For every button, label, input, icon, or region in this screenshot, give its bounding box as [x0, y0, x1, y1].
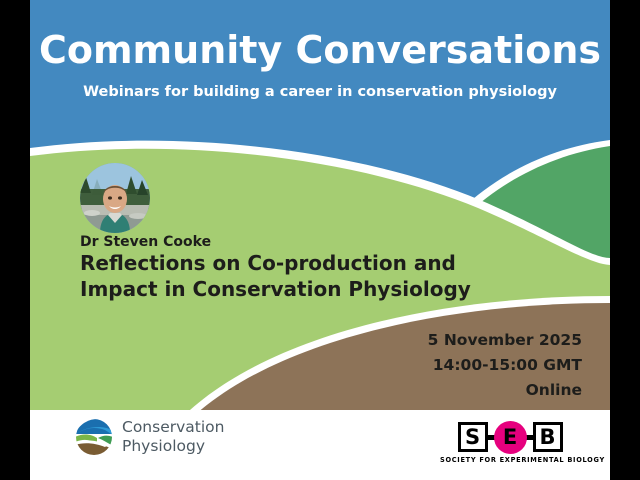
poster-title: Community Conversations	[30, 30, 610, 72]
seb-tagline: SOCIETY FOR EXPERIMENTAL BIOLOGY	[440, 456, 580, 464]
seb-letter-b: B	[533, 422, 563, 452]
poster-header: Community Conversations Webinars for bui…	[30, 30, 610, 100]
speaker-portrait-image	[80, 163, 150, 233]
talk-title-line-1: Reflections on Co-production and	[80, 251, 510, 277]
event-details: 5 November 2025 14:00-15:00 GMT Online	[428, 328, 582, 403]
seb-letter-e: E	[494, 421, 527, 454]
letterbox-left	[0, 0, 30, 480]
talk-title-line-2: Impact in Conservation Physiology	[80, 277, 510, 303]
seb-letter-s: S	[458, 422, 488, 452]
cp-line-1: Conservation	[122, 418, 224, 437]
cp-line-2: Physiology	[122, 437, 224, 456]
event-date: 5 November 2025	[428, 328, 582, 353]
seb-letters: S E B	[440, 421, 580, 453]
conservation-physiology-mark-icon	[75, 418, 113, 456]
event-time: 14:00-15:00 GMT	[428, 353, 582, 378]
speaker-avatar	[80, 163, 150, 233]
talk-title: Reflections on Co-production and Impact …	[80, 251, 510, 302]
letterbox-right	[610, 0, 640, 480]
speaker-name: Dr Steven Cooke	[80, 234, 211, 250]
poster-subtitle: Webinars for building a career in conser…	[30, 84, 610, 100]
seb-logo: S E B SOCIETY FOR EXPERIMENTAL BIOLOGY	[440, 421, 580, 464]
poster-stage: Community Conversations Webinars for bui…	[30, 0, 610, 480]
poster-footer: Conservation Physiology S E B SOCIETY FO…	[30, 410, 610, 480]
webinar-poster: Community Conversations Webinars for bui…	[0, 0, 640, 480]
conservation-physiology-wordmark: Conservation Physiology	[122, 418, 224, 456]
event-location: Online	[428, 378, 582, 403]
conservation-physiology-logo: Conservation Physiology	[75, 418, 224, 456]
